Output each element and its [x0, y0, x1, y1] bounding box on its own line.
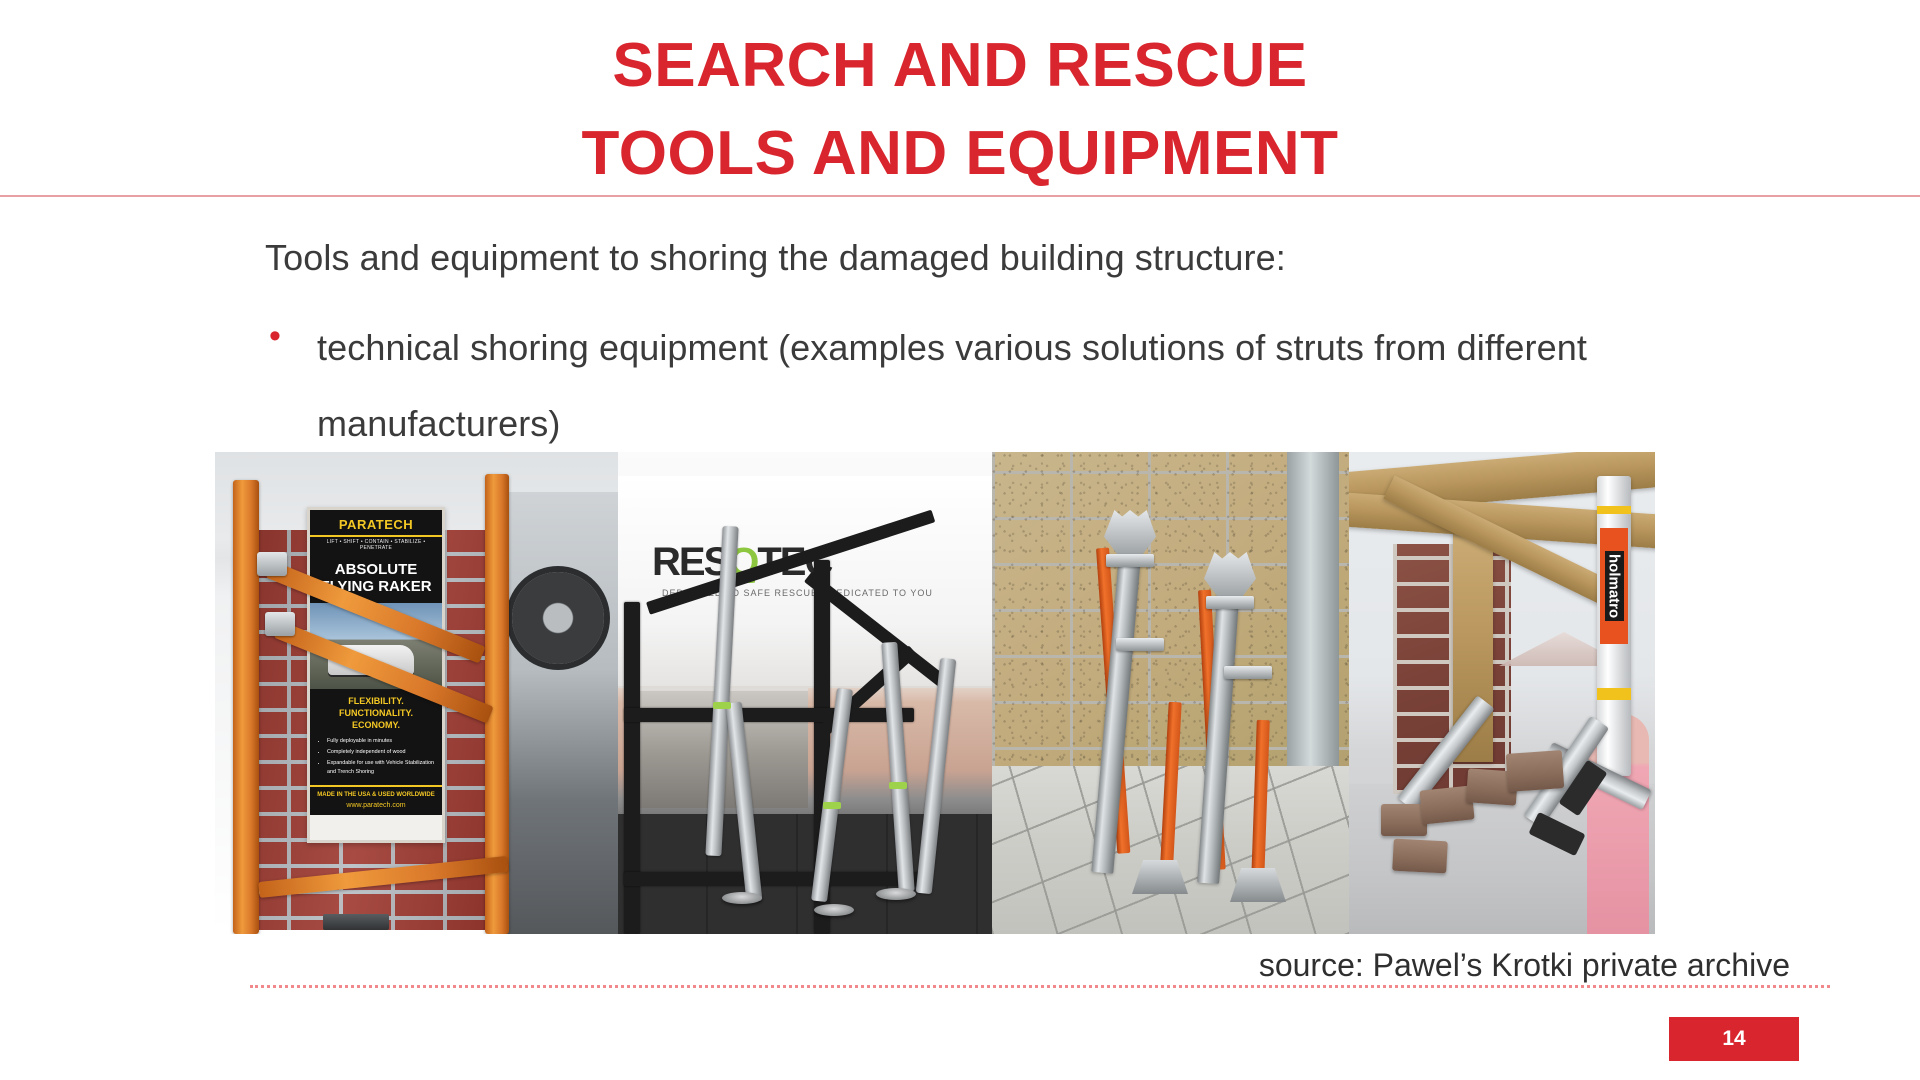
photo2-frame-rail — [624, 708, 914, 722]
photo1-strut-cleat — [265, 612, 295, 636]
poster-footer: MADE IN THE USA & USED WORLDWIDE — [310, 785, 442, 800]
poster-feature-list: Fully deployable in minutes Completely i… — [310, 735, 442, 785]
header-divider-rule — [0, 195, 1920, 197]
bullet-dot-icon: • — [265, 310, 317, 362]
photo3-prop-collar — [1106, 554, 1154, 567]
slide-title: SEARCH AND RESCUE TOOLS AND EQUIPMENT — [0, 22, 1920, 198]
photo2-strut-green-band — [823, 802, 841, 809]
photo4-cribbing-block — [1506, 750, 1565, 792]
poster-url: www.paratech.com — [310, 800, 442, 815]
photo2-frame-rail — [624, 872, 924, 886]
photo1-strut-cleat — [257, 552, 287, 576]
logo-prefix: RES — [652, 540, 728, 584]
photo1-vertical-post-left — [233, 480, 259, 934]
photo-resqtec-strut-frame: RESQTEC DEDICATED TO SAFE RESCUE · DEDIC… — [618, 452, 992, 934]
poster-headline-1: ABSOLUTE — [312, 561, 440, 578]
photo3-prop-collar — [1206, 596, 1254, 609]
photo-paratech-flying-raker: PARATECH LIFT • SHIFT • CONTAIN • STABIL… — [215, 452, 618, 934]
photo4-holmatro-label: holmatro — [1600, 528, 1628, 644]
slide-canvas: SEARCH AND RESCUE TOOLS AND EQUIPMENT To… — [0, 0, 1920, 1080]
poster-slogan-3: ECONOMY. — [312, 719, 440, 731]
photo3-prop-collar — [1224, 666, 1272, 679]
photo4-prop-yellow-band — [1597, 506, 1631, 514]
photo3-door-frame — [1287, 452, 1339, 782]
page-number-badge: 14 — [1669, 1017, 1799, 1061]
poster-feature-item: Fully deployable in minutes — [327, 737, 434, 746]
photo2-strut-base-foot — [814, 904, 854, 916]
photo-holmatro-props: holmatro — [1349, 452, 1655, 934]
photo-strip: PARATECH LIFT • SHIFT • CONTAIN • STABIL… — [215, 452, 1655, 934]
photo-raking-shores-block-wall — [992, 452, 1349, 934]
footer-dotted-rule — [250, 985, 1830, 988]
poster-feature-item: Expandable for use with Vehicle Stabiliz… — [327, 759, 434, 777]
photo4-cribbing-block — [1392, 839, 1448, 874]
photo4-cribbing-block — [1381, 804, 1427, 836]
bullet-item-label: technical shoring equipment (examples va… — [317, 310, 1685, 462]
title-line-2: TOOLS AND EQUIPMENT — [0, 110, 1920, 198]
photo3-prop-collar — [1116, 638, 1164, 651]
photo2-strut-base-foot — [876, 888, 916, 900]
title-line-1: SEARCH AND RESCUE — [0, 22, 1920, 110]
photo2-strut-green-band — [889, 782, 907, 789]
lead-paragraph: Tools and equipment to shoring the damag… — [265, 232, 1685, 284]
photo2-strut-green-band — [713, 702, 731, 709]
source-caption: source: Pawel’s Krotki private archive — [0, 947, 1790, 984]
photo4-prop-yellow-band — [1597, 688, 1631, 700]
body-content: Tools and equipment to shoring the damag… — [265, 232, 1685, 462]
photo2-strut-base-foot — [722, 892, 762, 904]
photo4-holmatro-brand-text: holmatro — [1605, 551, 1624, 621]
poster-feature-item: Completely independent of wood — [327, 748, 434, 757]
bullet-item: • technical shoring equipment (examples … — [265, 310, 1685, 462]
poster-brand-subtitle: LIFT • SHIFT • CONTAIN • STABILIZE • PEN… — [310, 537, 442, 555]
photo1-base-plate — [323, 914, 389, 930]
photo1-tire — [512, 572, 604, 664]
poster-slogan-2: FUNCTIONALITY. — [312, 707, 440, 719]
poster-brand: PARATECH — [310, 510, 442, 537]
